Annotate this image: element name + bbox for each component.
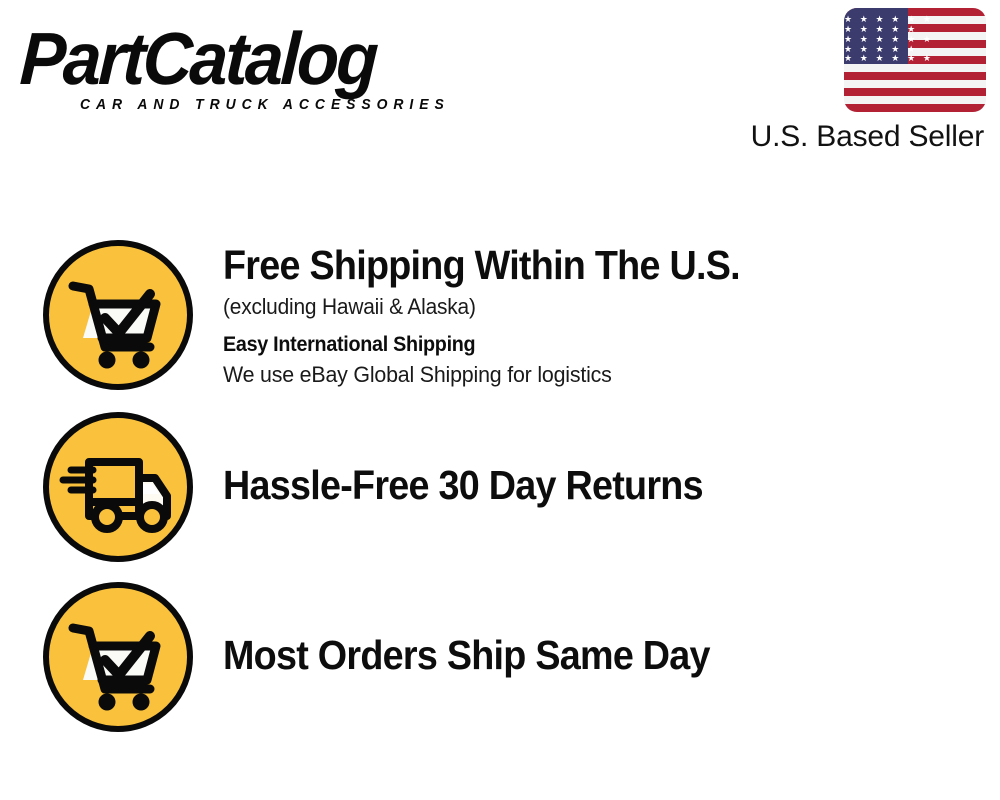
us-based-seller-label: U.S. Based Seller [751, 120, 984, 154]
feature-text-block: Free Shipping Within The U.S. (excluding… [223, 240, 1000, 390]
feature-title: Hassle-Free 30 Day Returns [223, 462, 938, 508]
flag-star-row: ★ ★ ★ ★ ★ ★ [844, 54, 908, 63]
brand-name: PartCatalog [18, 22, 468, 96]
us-flag-icon: ★ ★ ★ ★ ★ ★ ★ ★ ★ ★ ★ ★ ★ ★ ★ ★ ★ ★ ★ ★ … [844, 8, 986, 112]
feature-row: Free Shipping Within The U.S. (excluding… [0, 240, 1000, 390]
flag-star-row: ★ ★ ★ ★ ★ ★ [844, 15, 908, 24]
feature-sub-detail: We use eBay Global Shipping for logistic… [223, 360, 961, 390]
feature-sub-heading: Easy International Shipping [223, 331, 953, 359]
brand-logo: PartCatalog CAR AND TRUCK ACCESSORIES [22, 22, 502, 113]
feature-text-block: Most Orders Ship Same Day [223, 582, 1000, 678]
page-header: PartCatalog CAR AND TRUCK ACCESSORIES ★ … [0, 0, 1000, 175]
shopping-cart-check-icon [43, 582, 193, 732]
feature-row: Hassle-Free 30 Day Returns [0, 412, 1000, 562]
feature-subtitle: (excluding Hawaii & Alaska) [223, 292, 961, 322]
shopping-cart-check-icon [43, 240, 193, 390]
flag-star-row: ★ ★ ★ ★ ★ ★ [844, 35, 908, 44]
brand-tagline: CAR AND TRUCK ACCESSORIES [80, 97, 485, 113]
delivery-truck-icon [43, 412, 193, 562]
feature-title: Free Shipping Within The U.S. [223, 242, 938, 288]
us-based-seller-badge: ★ ★ ★ ★ ★ ★ ★ ★ ★ ★ ★ ★ ★ ★ ★ ★ ★ ★ ★ ★ … [751, 8, 986, 154]
feature-row: Most Orders Ship Same Day [0, 582, 1000, 732]
flag-star-row: ★ ★ ★ ★ ★ [844, 25, 908, 34]
feature-title: Most Orders Ship Same Day [223, 632, 938, 678]
feature-text-block: Hassle-Free 30 Day Returns [223, 412, 1000, 508]
